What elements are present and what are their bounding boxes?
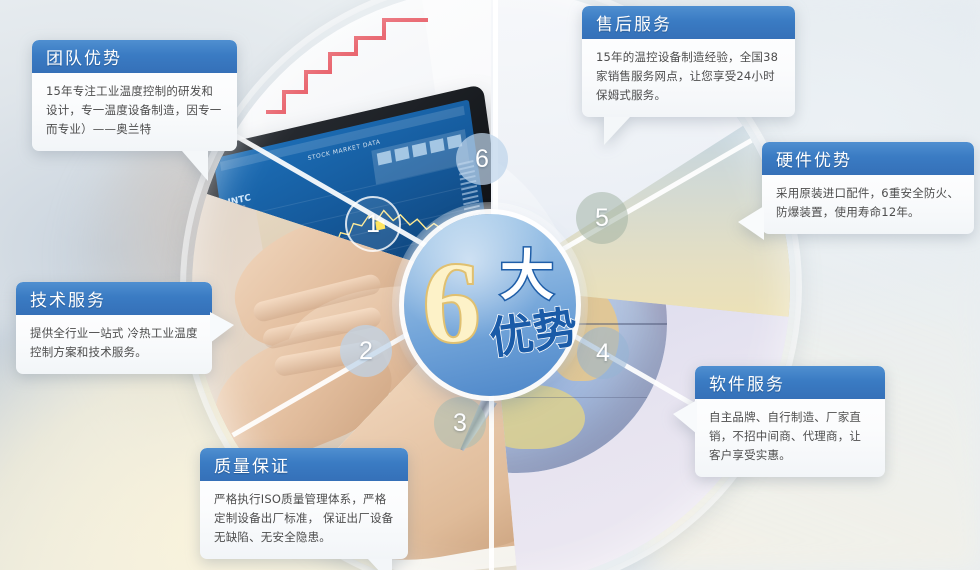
callout-software-text: 自主品牌、自行制造、厂家直销，不招中间商、代理商，让客户享受实惠。 xyxy=(695,399,885,477)
segment-number-6-label: 6 xyxy=(475,145,489,174)
callout-technical-text: 提供全行业一站式 冷热工业温度控制方案和技术服务。 xyxy=(16,315,212,374)
center-badge[interactable]: 6 大 优势 xyxy=(404,214,576,396)
center-badge-big-char: 大 xyxy=(500,244,554,307)
callout-hardware[interactable]: 硬件优势 采用原装进口配件，6重安全防火、防爆装置，使用寿命12年。 xyxy=(762,142,974,234)
callout-team[interactable]: 团队优势 15年专注工业温度控制的研发和设计，专一温度设备制造，因专一而专业）—… xyxy=(32,40,237,151)
callout-software[interactable]: 软件服务 自主品牌、自行制造、厂家直销，不招中间商、代理商，让客户享受实惠。 xyxy=(695,366,885,477)
segment-number-1-label: 1 xyxy=(366,210,380,239)
segment-number-4[interactable]: 4 xyxy=(577,327,629,379)
callout-team-text: 15年专注工业温度控制的研发和设计，专一温度设备制造，因专一而专业）——奥兰特 xyxy=(32,73,237,151)
callout-software-title: 软件服务 xyxy=(695,366,885,399)
callout-after-sales-text: 15年的温控设备制造经验，全国38家销售服务网点，让您享受24小时保姆式服务。 xyxy=(582,39,795,117)
segment-number-2[interactable]: 2 xyxy=(340,325,392,377)
callout-quality-pointer xyxy=(368,559,392,570)
callout-after-sales-pointer xyxy=(604,117,630,145)
segment-number-2-label: 2 xyxy=(359,337,373,366)
callout-technical[interactable]: 技术服务 提供全行业一站式 冷热工业温度控制方案和技术服务。 xyxy=(16,282,212,374)
infographic-canvas: STOCK MARKET DATA INTC 449.96 xyxy=(0,0,980,570)
callout-quality[interactable]: 质量保证 严格执行ISO质量管理体系，严格定制设备出厂标准， 保证出厂设备无缺陷… xyxy=(200,448,408,559)
callout-hardware-text: 采用原装进口配件，6重安全防火、防爆装置，使用寿命12年。 xyxy=(762,175,974,234)
callout-hardware-pointer xyxy=(738,206,764,240)
callout-technical-pointer xyxy=(210,312,234,343)
segment-number-3-label: 3 xyxy=(453,409,467,438)
callout-hardware-title: 硬件优势 xyxy=(762,142,974,175)
callout-after-sales[interactable]: 售后服务 15年的温控设备制造经验，全国38家销售服务网点，让您享受24小时保姆… xyxy=(582,6,795,117)
callout-quality-text: 严格执行ISO质量管理体系，严格定制设备出厂标准， 保证出厂设备无缺陷、无安全隐… xyxy=(200,481,408,559)
center-badge-artwork: 6 大 优势 xyxy=(404,214,576,396)
center-badge-script: 优势 xyxy=(486,302,576,365)
callout-software-pointer xyxy=(673,400,697,434)
callout-quality-title: 质量保证 xyxy=(200,448,408,481)
callout-team-pointer xyxy=(182,151,208,181)
segment-number-1[interactable]: 1 xyxy=(345,196,401,252)
callout-after-sales-title: 售后服务 xyxy=(582,6,795,39)
segment-number-6[interactable]: 6 xyxy=(456,133,508,185)
segment-number-4-label: 4 xyxy=(596,339,610,368)
callout-technical-title: 技术服务 xyxy=(16,282,212,315)
center-badge-number: 6 xyxy=(422,237,481,368)
callout-team-title: 团队优势 xyxy=(32,40,237,73)
segment-number-5-label: 5 xyxy=(595,204,609,233)
segment-number-5[interactable]: 5 xyxy=(576,192,628,244)
